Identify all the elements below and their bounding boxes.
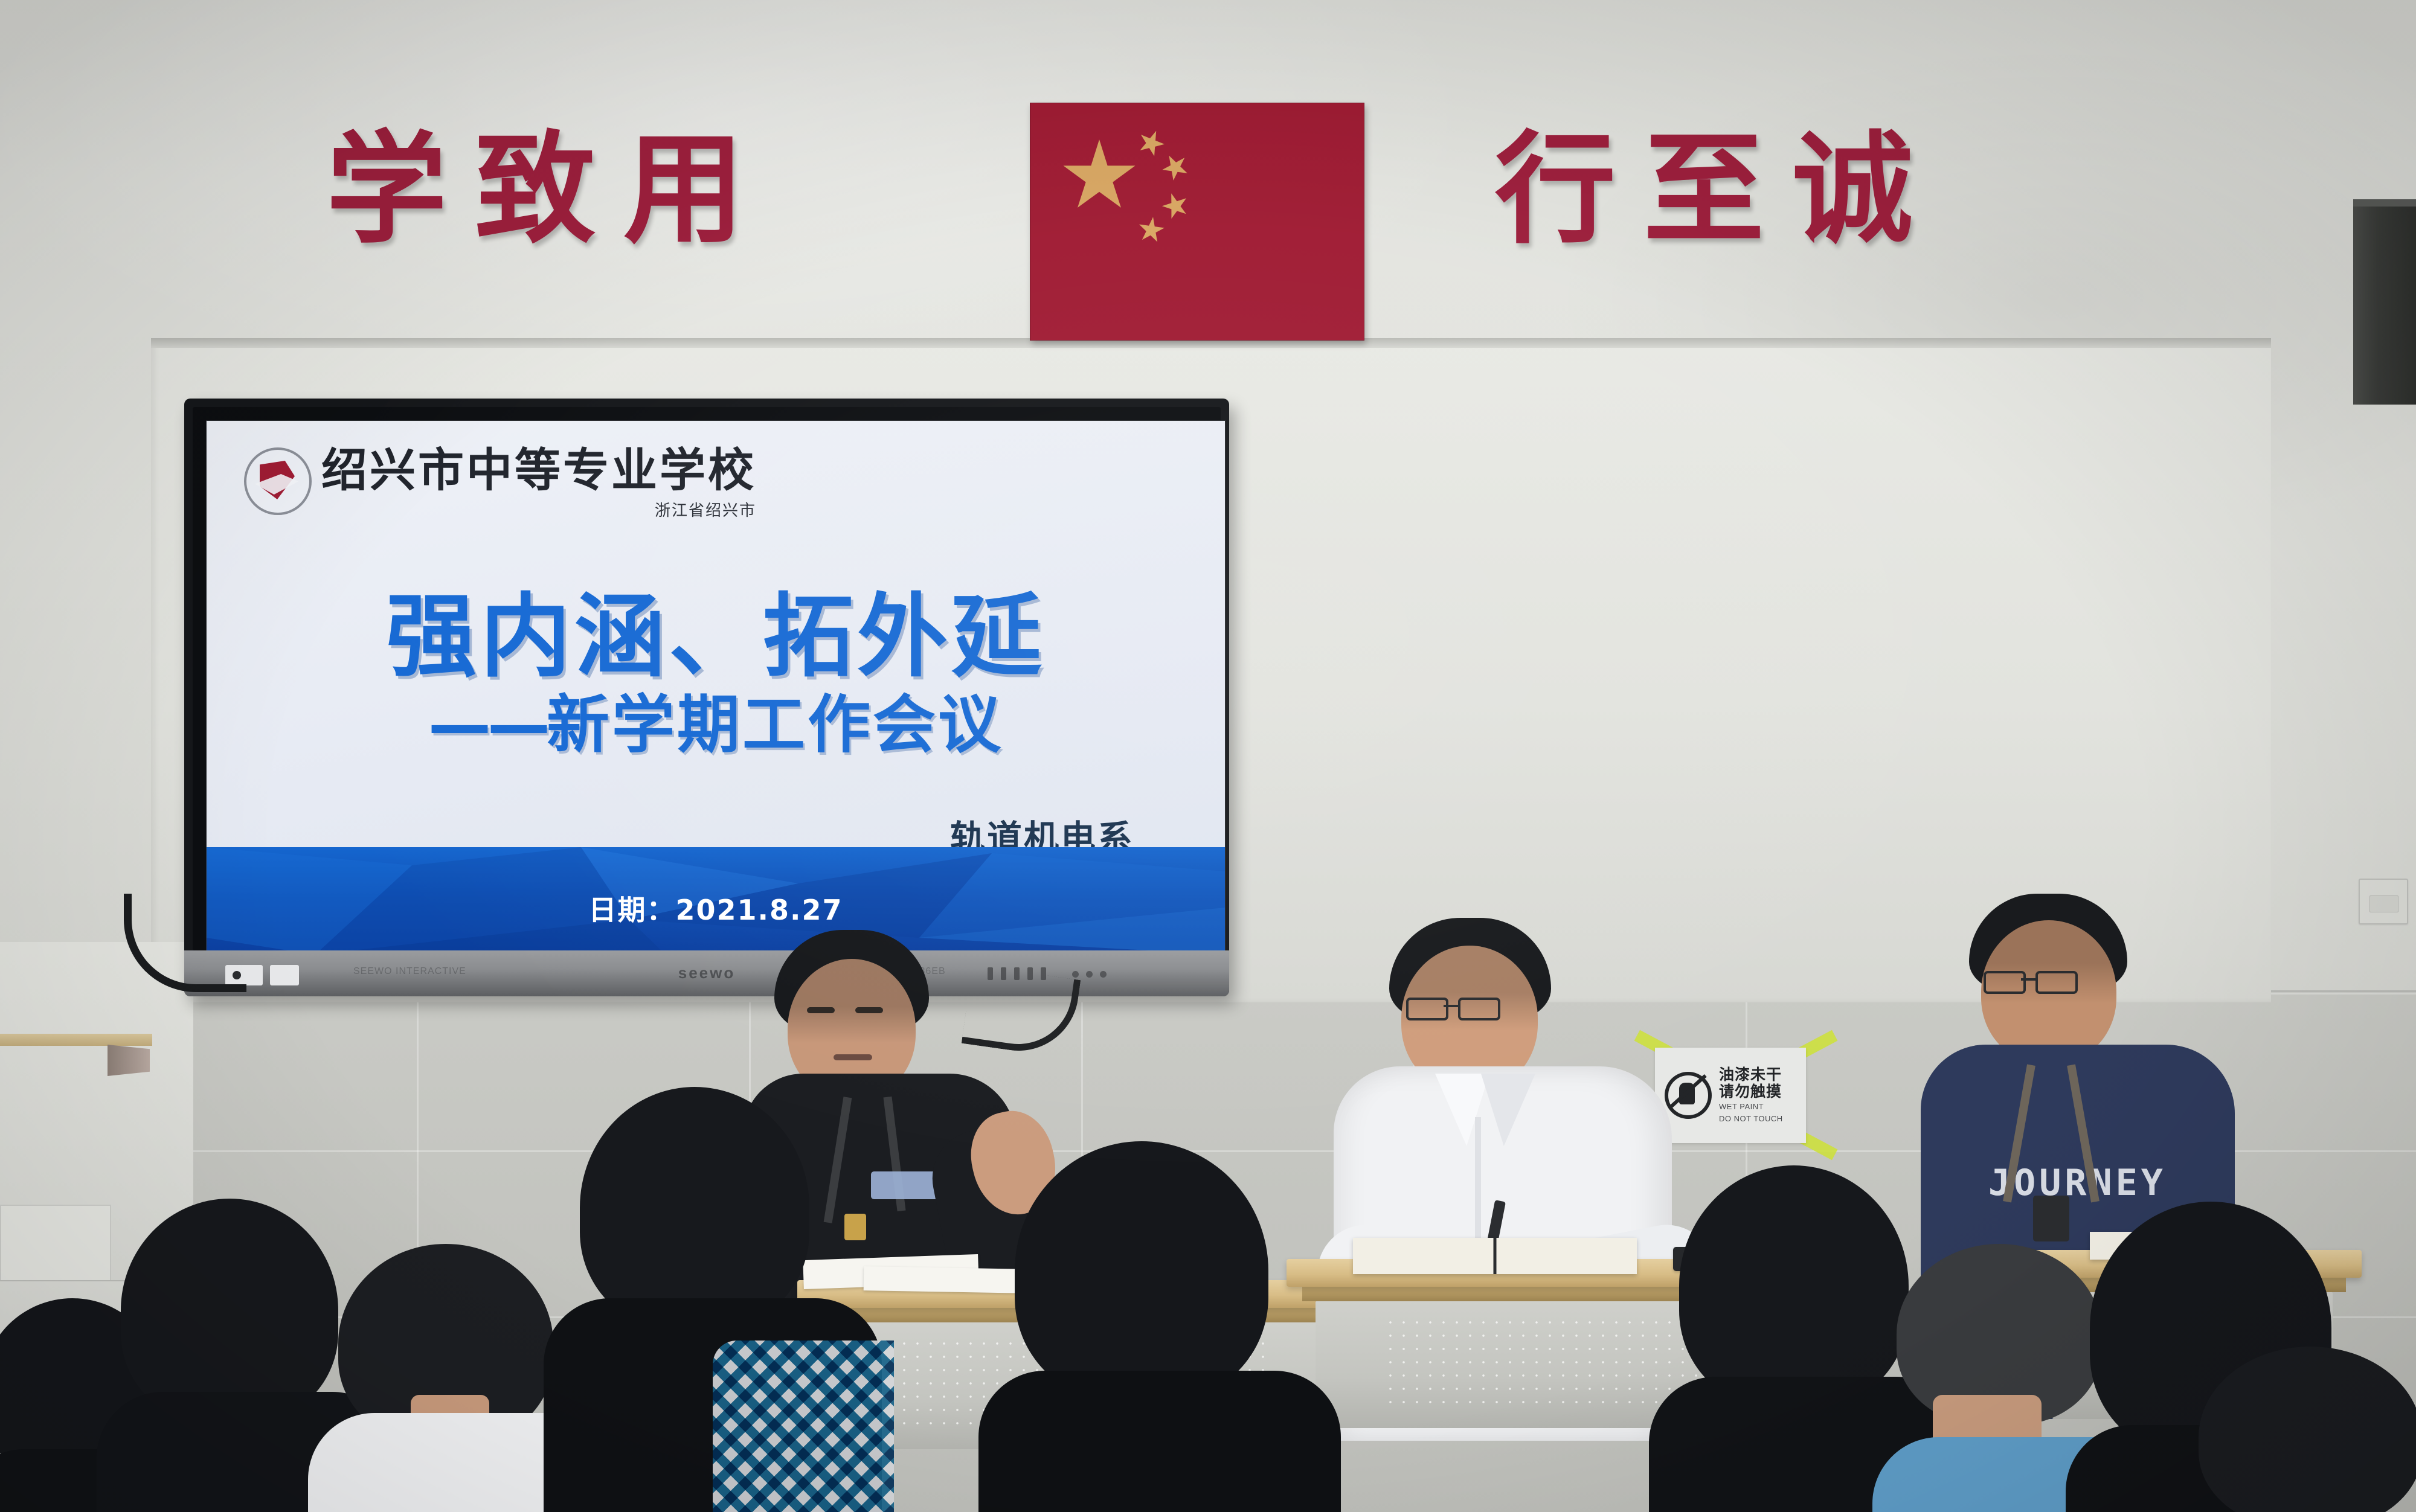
school-subname: 浙江省绍兴市 xyxy=(655,498,756,521)
lanyard-badge xyxy=(2033,1196,2069,1241)
china-flag-icon xyxy=(1030,103,1364,341)
flag-small-star xyxy=(1158,189,1192,222)
lens-left xyxy=(1984,971,2026,994)
indicator-dot xyxy=(1100,971,1107,978)
audience-member xyxy=(580,1087,846,1510)
glasses-icon xyxy=(1406,998,1533,1019)
lens-right xyxy=(2035,971,2078,994)
lanyard-badge xyxy=(844,1214,866,1240)
glasses-bridge xyxy=(1444,1005,1459,1007)
display-screen[interactable]: 绍兴市中等专业学校 浙江省绍兴市 强内涵、拓外延 ——新学期工作会议 轨道机电系 xyxy=(206,420,1226,955)
display-left-label: SEEWO INTERACTIVE xyxy=(353,966,466,977)
school-logo: 绍兴市中等专业学校 浙江省绍兴市 xyxy=(244,447,756,521)
flag-big-star xyxy=(1062,139,1137,214)
interactive-display[interactable]: 绍兴市中等专业学校 浙江省绍兴市 强内涵、拓外延 ——新学期工作会议 轨道机电系 xyxy=(184,399,1229,996)
head-back xyxy=(580,1087,809,1328)
slide-date: 日期：2021.8.27 xyxy=(207,888,1225,928)
eye xyxy=(855,1007,883,1013)
open-notebook xyxy=(1353,1238,1637,1274)
indicator-dot xyxy=(1086,971,1093,978)
dark-wall-post xyxy=(2353,199,2416,405)
audience-member xyxy=(1015,1141,1299,1512)
flag-small-star xyxy=(1157,149,1194,186)
school-name: 绍兴市中等专业学校 xyxy=(321,447,756,493)
head-back xyxy=(1679,1165,1909,1407)
glasses-bridge xyxy=(2021,978,2037,981)
dark-wall-post-top xyxy=(2353,199,2416,207)
school-crest-icon xyxy=(244,447,312,515)
left-column-corner-shadow xyxy=(108,1045,150,1076)
light-switch-plate[interactable] xyxy=(2359,879,2408,924)
wall-slogan-right: 行至诚 xyxy=(1495,130,1941,251)
left-column-wood-trim xyxy=(0,1034,152,1046)
display-brand-label: seewo xyxy=(678,964,736,982)
head-back xyxy=(1015,1141,1268,1401)
slide-subtitle-row: ——新学期工作会议 xyxy=(207,673,1225,764)
display-bezel: 绍兴市中等专业学校 浙江省绍兴市 强内涵、拓外延 ——新学期工作会议 轨道机电系 xyxy=(193,407,1221,950)
subtitle-dash: —— xyxy=(428,688,547,761)
eye xyxy=(807,1007,835,1013)
flag-small-star xyxy=(1136,215,1166,245)
notebook-spine xyxy=(1494,1238,1497,1274)
meeting-room-photo: 学致用 行至诚 绍兴市中等专业学校 浙江省绍兴市 强内涵、拓外延 xyxy=(0,0,2416,1512)
audience-member xyxy=(2199,1347,2416,1512)
head-back xyxy=(2199,1347,2416,1512)
slide-subtitle: 新学期工作会议 xyxy=(547,688,1003,761)
shoulders xyxy=(978,1371,1341,1512)
lens-right xyxy=(1458,998,1500,1020)
display-ir-receiver xyxy=(270,965,299,985)
flag-small-star xyxy=(1134,126,1168,160)
lens-left xyxy=(1406,998,1448,1020)
presentation-slide: 绍兴市中等专业学校 浙江省绍兴市 强内涵、拓外延 ——新学期工作会议 轨道机电系 xyxy=(207,421,1225,955)
glasses-icon xyxy=(1984,971,2113,994)
head-back xyxy=(121,1199,338,1422)
mouth xyxy=(834,1054,872,1060)
patterned-garment xyxy=(713,1341,894,1512)
wall-slogan-left: 学致用 xyxy=(326,130,772,251)
